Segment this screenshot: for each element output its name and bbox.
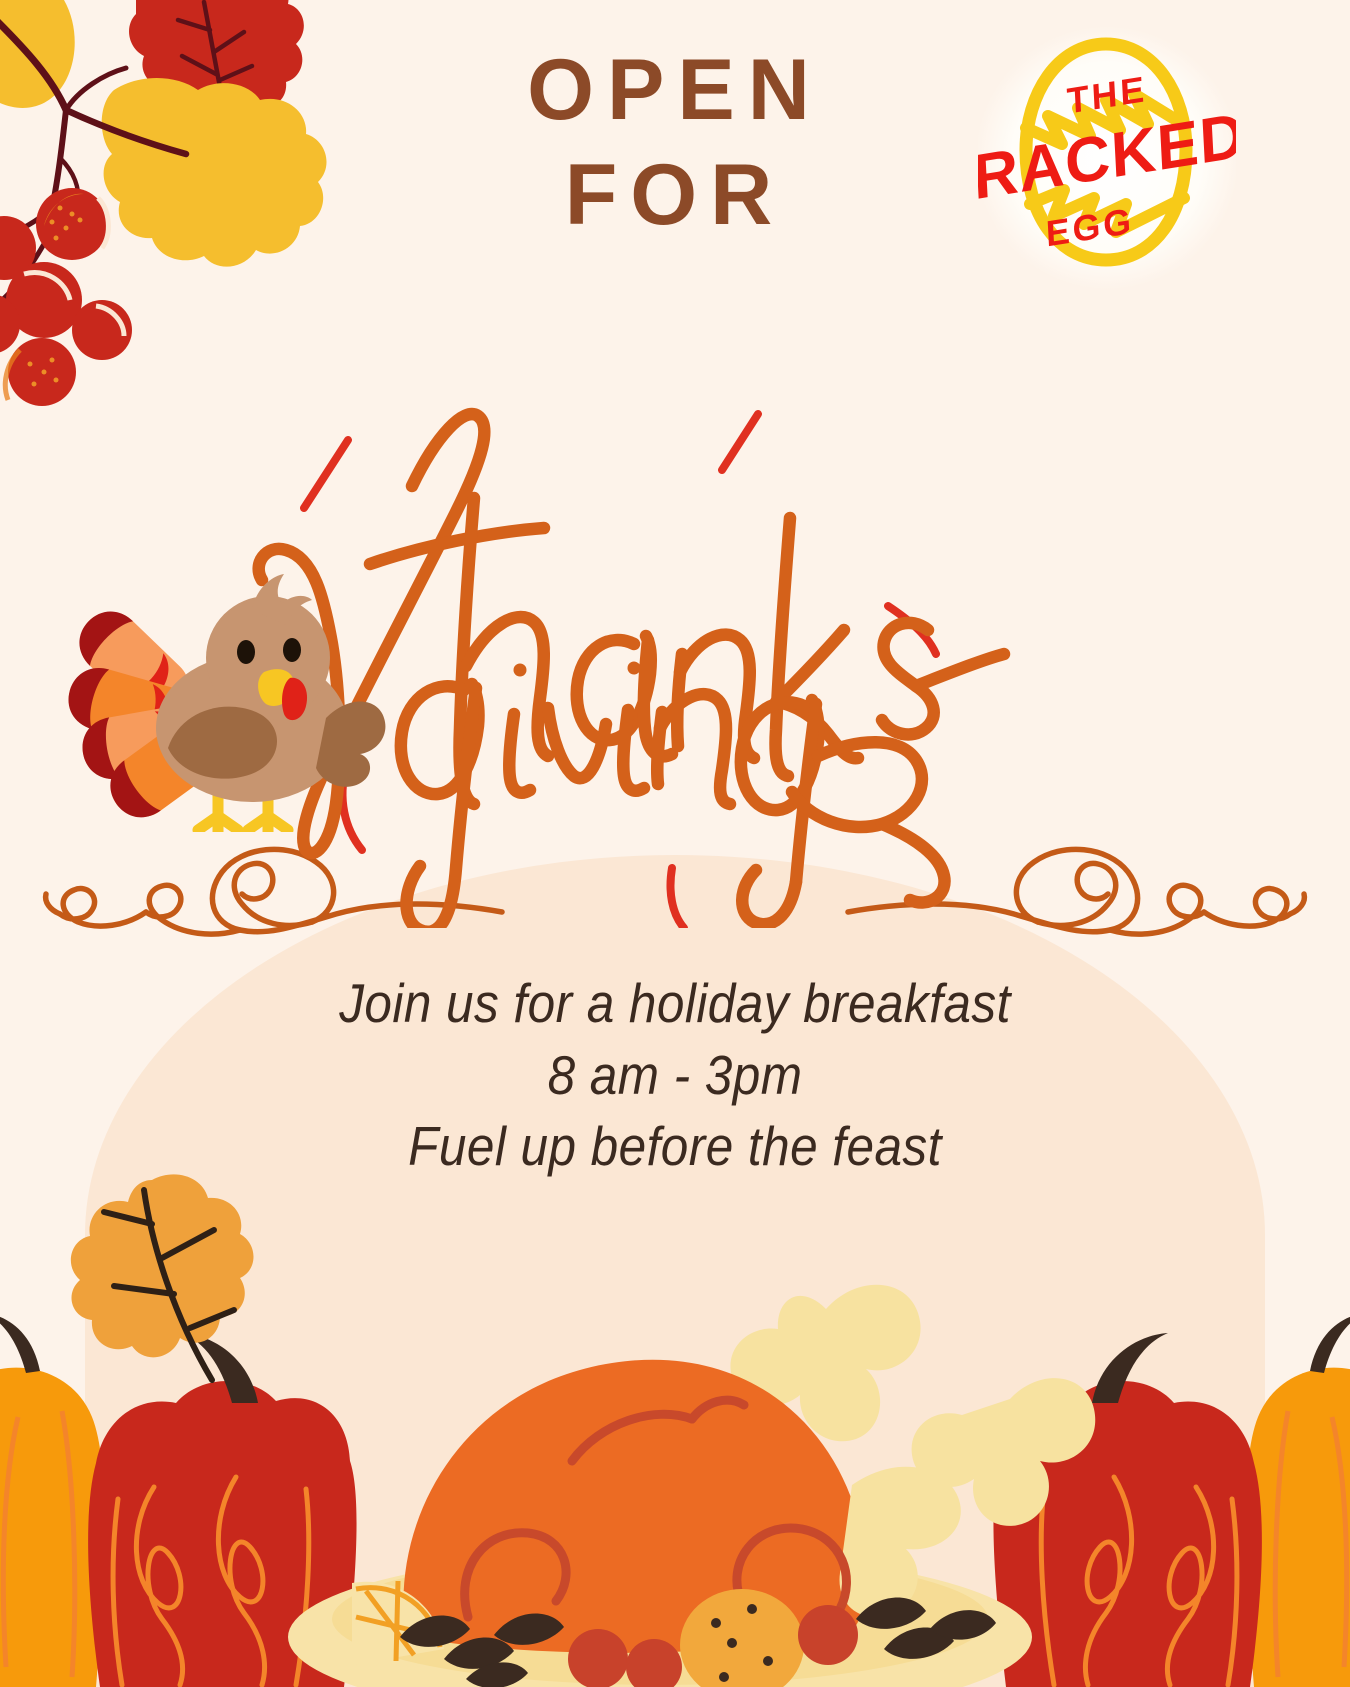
gourd-right-orange <box>1245 1313 1350 1687</box>
event-details: Join us for a holiday breakfast 8 am - 3… <box>68 968 1283 1183</box>
turkey-eye-right <box>283 638 301 662</box>
thanksgiving-poster: OPEN FOR THE CRACKED EGG <box>0 0 1350 1687</box>
details-line-2: 8 am - 3pm <box>68 1040 1283 1112</box>
turkey-mascot <box>40 552 390 832</box>
turkey-eye-left <box>237 640 255 664</box>
details-line-3: Fuel up before the feast <box>68 1111 1283 1183</box>
details-line-1: Join us for a holiday breakfast <box>68 968 1283 1040</box>
the-cracked-egg-logo[interactable]: THE CRACKED EGG <box>978 8 1236 298</box>
script-accent-strokes <box>304 414 936 928</box>
oak-leaf <box>48 1166 278 1416</box>
